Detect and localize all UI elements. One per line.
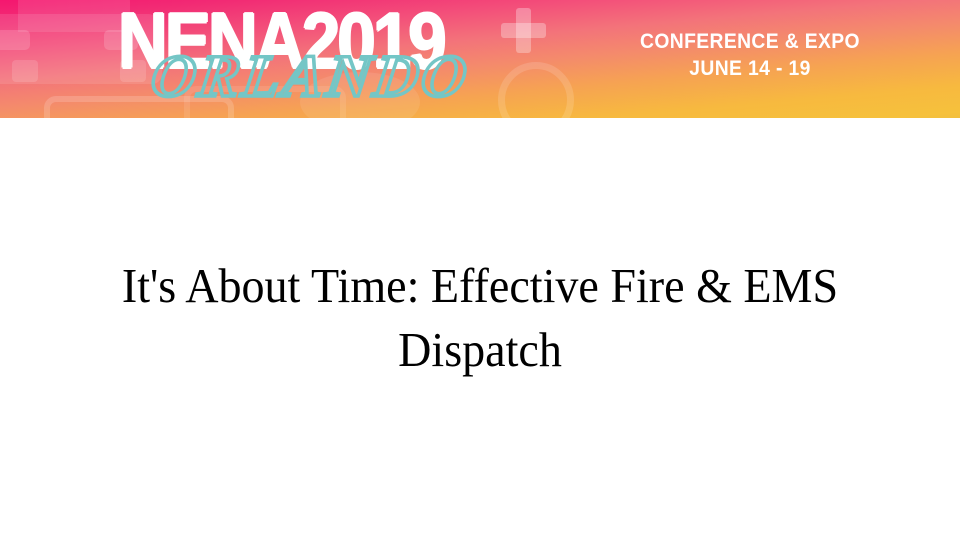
orlando-script-wordmark: ORLANDO	[148, 46, 474, 106]
vehicle-silhouette-watermark-roof	[18, 0, 130, 32]
vehicle-window-watermark-left	[0, 30, 30, 50]
conference-details: CONFERENCE & EXPO JUNE 14 - 19	[600, 28, 900, 82]
vehicle-wheel-watermark-left	[12, 60, 38, 82]
conference-dates-label: JUNE 14 - 19	[612, 55, 888, 82]
slide-body: It's About Time: Effective Fire & EMS Di…	[0, 118, 960, 540]
conference-expo-label: CONFERENCE & EXPO	[612, 28, 888, 55]
nena-2019-logo: NENA2019 ORLANDO	[118, 0, 538, 116]
slide-title: It's About Time: Effective Fire & EMS Di…	[78, 254, 883, 382]
nena-conference-banner: NENA2019 ORLANDO CONFERENCE & EXPO JUNE …	[0, 0, 960, 118]
presentation-slide: NENA2019 ORLANDO CONFERENCE & EXPO JUNE …	[0, 0, 960, 540]
